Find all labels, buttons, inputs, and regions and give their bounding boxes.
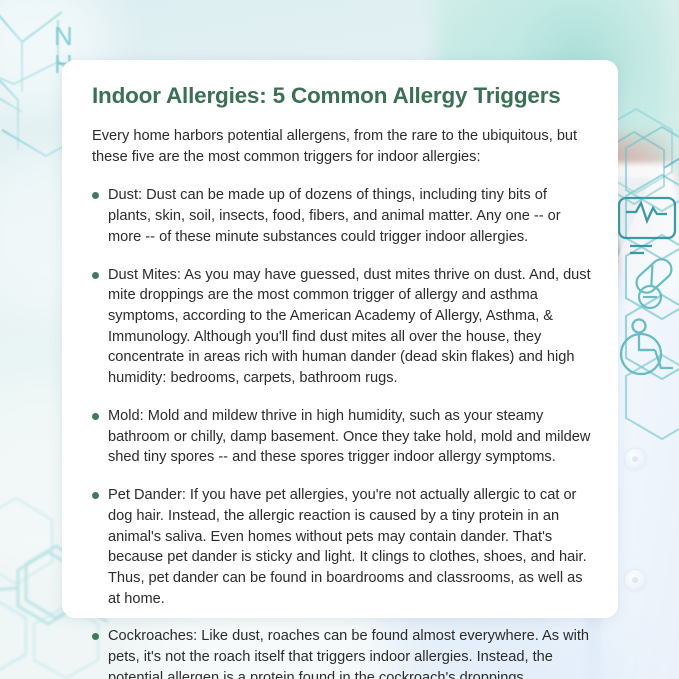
list-item: Cockroaches: Like dust, roaches can be f… [88,626,592,679]
page-title: Indoor Allergies: 5 Common Allergy Trigg… [88,82,592,109]
article-card: Indoor Allergies: 5 Common Allergy Trigg… [62,60,618,618]
bullet-icon [92,272,99,279]
list-item-text: Pet Dander: If you have pet allergies, y… [108,487,587,607]
list-item-text: Dust: Dust can be made up of dozens of t… [108,187,561,244]
list-item: Dust Mites: As you may have guessed, dus… [88,265,592,389]
list-item-text: Dust Mites: As you may have guessed, dus… [108,267,591,387]
list-item-text: Cockroaches: Like dust, roaches can be f… [108,628,589,679]
bullet-icon [92,192,99,199]
allergy-triggers-list: Dust: Dust can be made up of dozens of t… [88,185,592,679]
list-item: Pet Dander: If you have pet allergies, y… [88,485,592,609]
intro-paragraph: Every home harbors potential allergens, … [88,126,592,167]
list-item-text: Mold: Mold and mildew thrive in high hum… [108,408,590,465]
bullet-icon [92,633,99,640]
list-item: Mold: Mold and mildew thrive in high hum… [88,406,592,468]
list-item: Dust: Dust can be made up of dozens of t… [88,185,592,247]
bullet-icon [92,492,99,499]
chemical-label-n: N [54,21,73,51]
wheelchair-accessibility-icon [621,320,673,375]
bullet-icon [92,413,99,420]
